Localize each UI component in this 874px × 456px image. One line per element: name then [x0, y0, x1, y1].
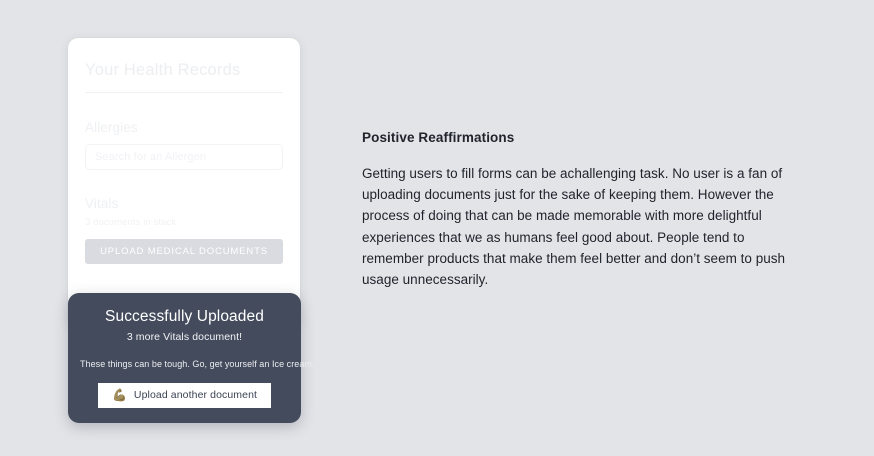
vitals-stack-count: 3 documents in stack [85, 217, 283, 228]
toast-subtitle: 3 more Vitals document! [80, 331, 289, 343]
upload-another-document-button[interactable]: 💪 Upload another document [98, 383, 271, 408]
allergen-search-input[interactable]: Search for an Allergen [85, 144, 283, 170]
vitals-section: Vitals 3 documents in stack UPLOAD MEDIC… [85, 196, 283, 264]
toast-title: Successfully Uploaded [80, 308, 289, 327]
card-title: Your Health Records [85, 60, 283, 81]
copy-heading: Positive Reaffirmations [362, 130, 796, 145]
copy-body: Getting users to fill forms can be achal… [362, 163, 796, 290]
flexed-biceps-icon: 💪 [112, 389, 127, 401]
health-records-card-content: Your Health Records Allergies Search for… [68, 38, 300, 264]
toast-note: These things can be tough. Go, get yours… [80, 359, 289, 369]
copy-column: Positive Reaffirmations Getting users to… [362, 130, 796, 290]
allergies-section: Allergies Search for an Allergen [85, 120, 283, 170]
vitals-label: Vitals [85, 196, 283, 211]
health-records-card: Your Health Records Allergies Search for… [68, 38, 300, 328]
allergen-search-placeholder: Search for an Allergen [95, 151, 206, 163]
allergies-label: Allergies [85, 120, 283, 135]
title-divider [85, 92, 283, 93]
upload-another-document-label: Upload another document [134, 389, 257, 401]
screen-root: Your Health Records Allergies Search for… [0, 0, 874, 456]
upload-medical-documents-button[interactable]: UPLOAD MEDICAL DOCUMENTS [85, 239, 283, 264]
success-toast: Successfully Uploaded 3 more Vitals docu… [68, 293, 301, 423]
